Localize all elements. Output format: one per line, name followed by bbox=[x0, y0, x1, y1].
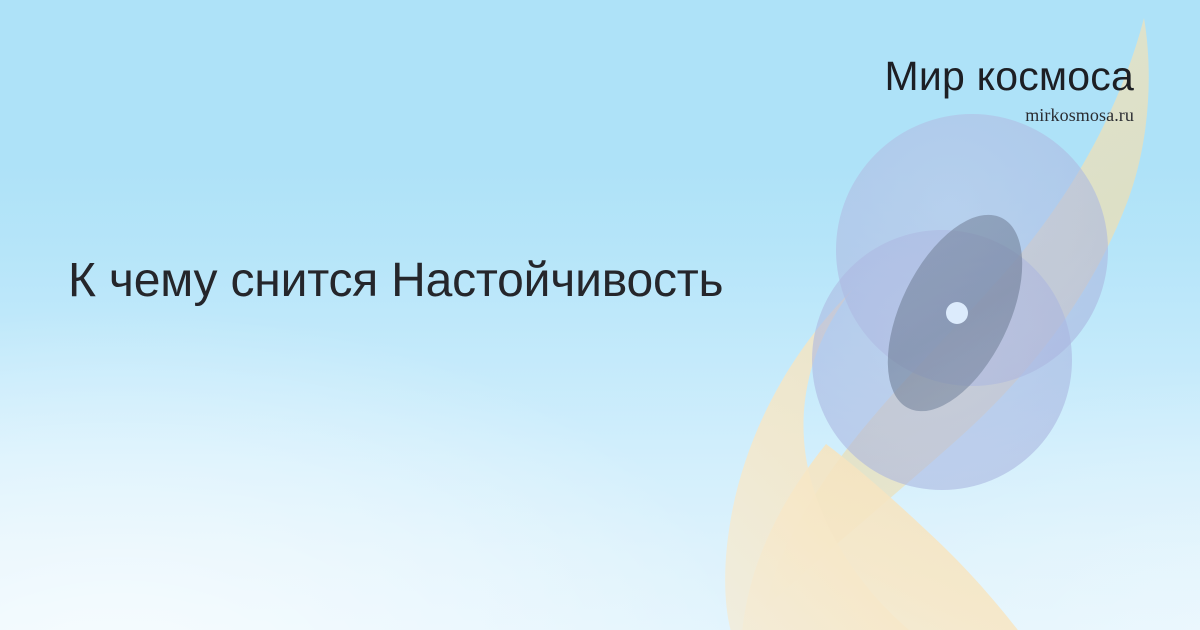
yellow-swoosh-lower bbox=[725, 290, 1040, 630]
center-dot bbox=[946, 302, 968, 324]
dark-ellipse bbox=[860, 194, 1050, 432]
brand-lockup: Мир космоса mirkosmosa.ru bbox=[885, 56, 1134, 124]
brand-name: Мир космоса bbox=[885, 56, 1134, 97]
lavender-circle-upper bbox=[836, 114, 1108, 386]
page-title: К чему снится Настойчивость bbox=[68, 254, 723, 308]
brand-url: mirkosmosa.ru bbox=[885, 106, 1134, 124]
lavender-circle-lower bbox=[812, 230, 1072, 490]
social-share-banner: Мир космоса mirkosmosa.ru К чему снится … bbox=[0, 0, 1200, 630]
